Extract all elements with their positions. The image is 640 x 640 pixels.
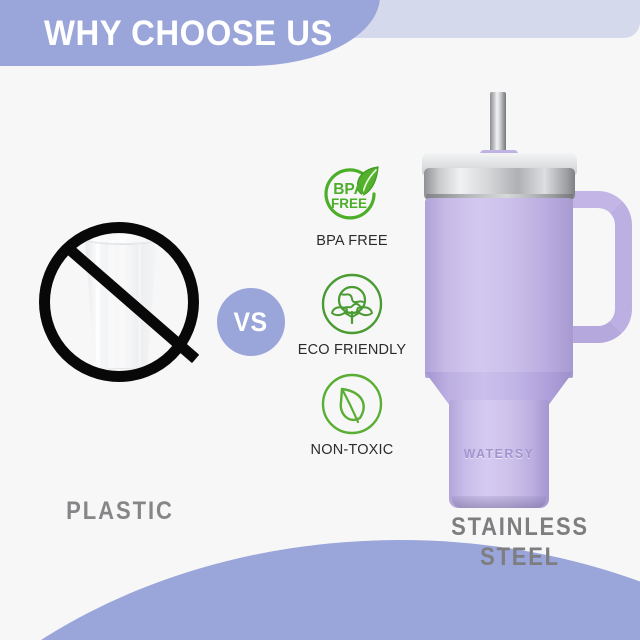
tumbler-base-shadow: [452, 496, 546, 508]
free-text: FREE: [331, 196, 367, 211]
stainless-steel-label: STAINLESS STEEL: [414, 512, 625, 572]
tumbler-body: [425, 198, 573, 378]
bpa-free-leaf-icon: BPA FREE: [320, 163, 384, 227]
infographic-canvas: WHY CHOOSE US PLASTIC VS BPA FREE BPA FR…: [0, 0, 640, 640]
plastic-product-illustration: [36, 218, 206, 390]
brand-logo: WATERSY: [452, 446, 547, 461]
stainless-steel-label-line2: STEEL: [414, 542, 625, 572]
globe-leaves-icon: [320, 272, 384, 336]
vs-badge: VS: [217, 288, 285, 356]
prohibition-sign-icon: [39, 222, 199, 382]
plastic-label: PLASTIC: [14, 497, 225, 526]
stainless-steel-label-line1: STAINLESS: [414, 512, 625, 542]
leaf-icon: [320, 372, 384, 436]
vs-badge-label: VS: [234, 307, 268, 338]
tumbler-product-illustration: WATERSY: [400, 88, 630, 508]
tumbler-straw: [490, 92, 506, 158]
page-title: WHY CHOOSE US: [44, 16, 333, 52]
